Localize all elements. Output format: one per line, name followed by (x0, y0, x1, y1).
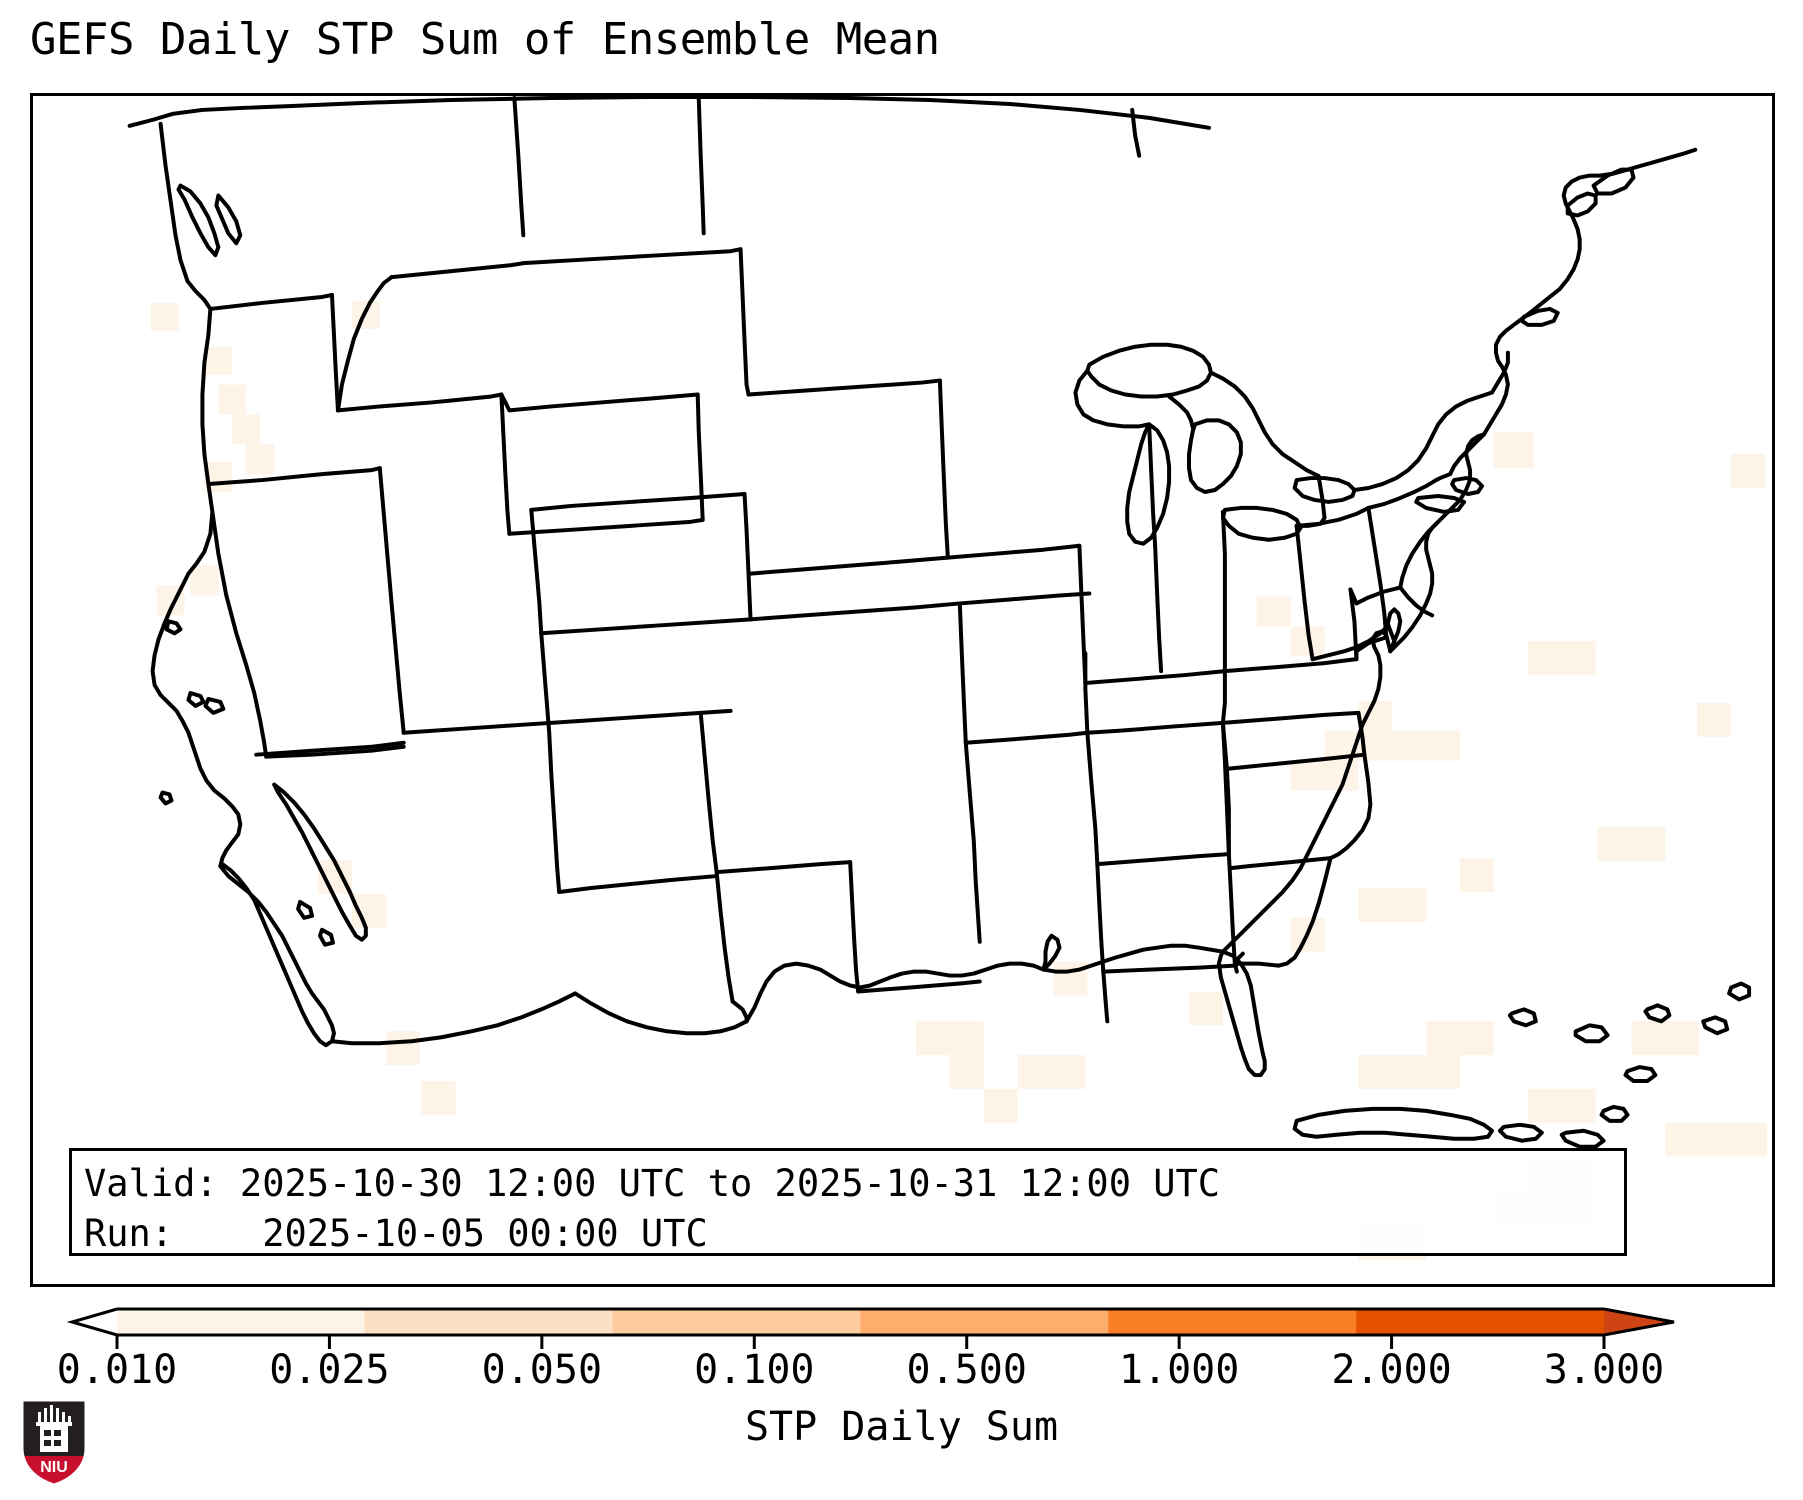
colorbar-band (1108, 1309, 1356, 1335)
valid-time-line: Valid: 2025-10-30 12:00 UTC to 2025-10-3… (84, 1159, 1624, 1209)
colorbar-tick-label: 0.050 (482, 1347, 602, 1393)
logo-text: NIU (40, 1459, 68, 1476)
map-geography-layer (33, 96, 1772, 1284)
colorbar-tick-label: 0.500 (906, 1347, 1026, 1393)
colorbar-tick-label: 0.025 (269, 1347, 389, 1393)
forecast-info-box: Valid: 2025-10-30 12:00 UTC to 2025-10-3… (69, 1148, 1627, 1256)
niu-logo: NIU (18, 1396, 90, 1488)
colorbar-graphic[interactable] (0, 1295, 1803, 1355)
colorbar-tick-label: 2.000 (1331, 1347, 1451, 1393)
colorbar-band (117, 1309, 365, 1335)
colorbar[interactable] (0, 1295, 1803, 1355)
colorbar-band (861, 1309, 1109, 1335)
page-title: GEFS Daily STP Sum of Ensemble Mean (30, 14, 940, 65)
colorbar-under-arrow (72, 1309, 117, 1335)
colorbar-tick-label: 0.100 (694, 1347, 814, 1393)
colorbar-tick-label: 0.010 (57, 1347, 177, 1393)
colorbar-tick-labels: 0.0100.0250.0500.1000.5001.0002.0003.000 (0, 1347, 1803, 1397)
colorbar-band (365, 1309, 613, 1335)
run-time-line: Run: 2025-10-05 00:00 UTC (84, 1209, 1624, 1259)
colorbar-band (1356, 1309, 1604, 1335)
map-axes[interactable]: Valid: 2025-10-30 12:00 UTC to 2025-10-3… (30, 93, 1775, 1287)
colorbar-over-arrow (1604, 1309, 1674, 1335)
colorbar-tick-label: 1.000 (1119, 1347, 1239, 1393)
colorbar-axis-label: STP Daily Sum (0, 1404, 1803, 1450)
colorbar-band (613, 1309, 861, 1335)
colorbar-tick-label: 3.000 (1544, 1347, 1664, 1393)
